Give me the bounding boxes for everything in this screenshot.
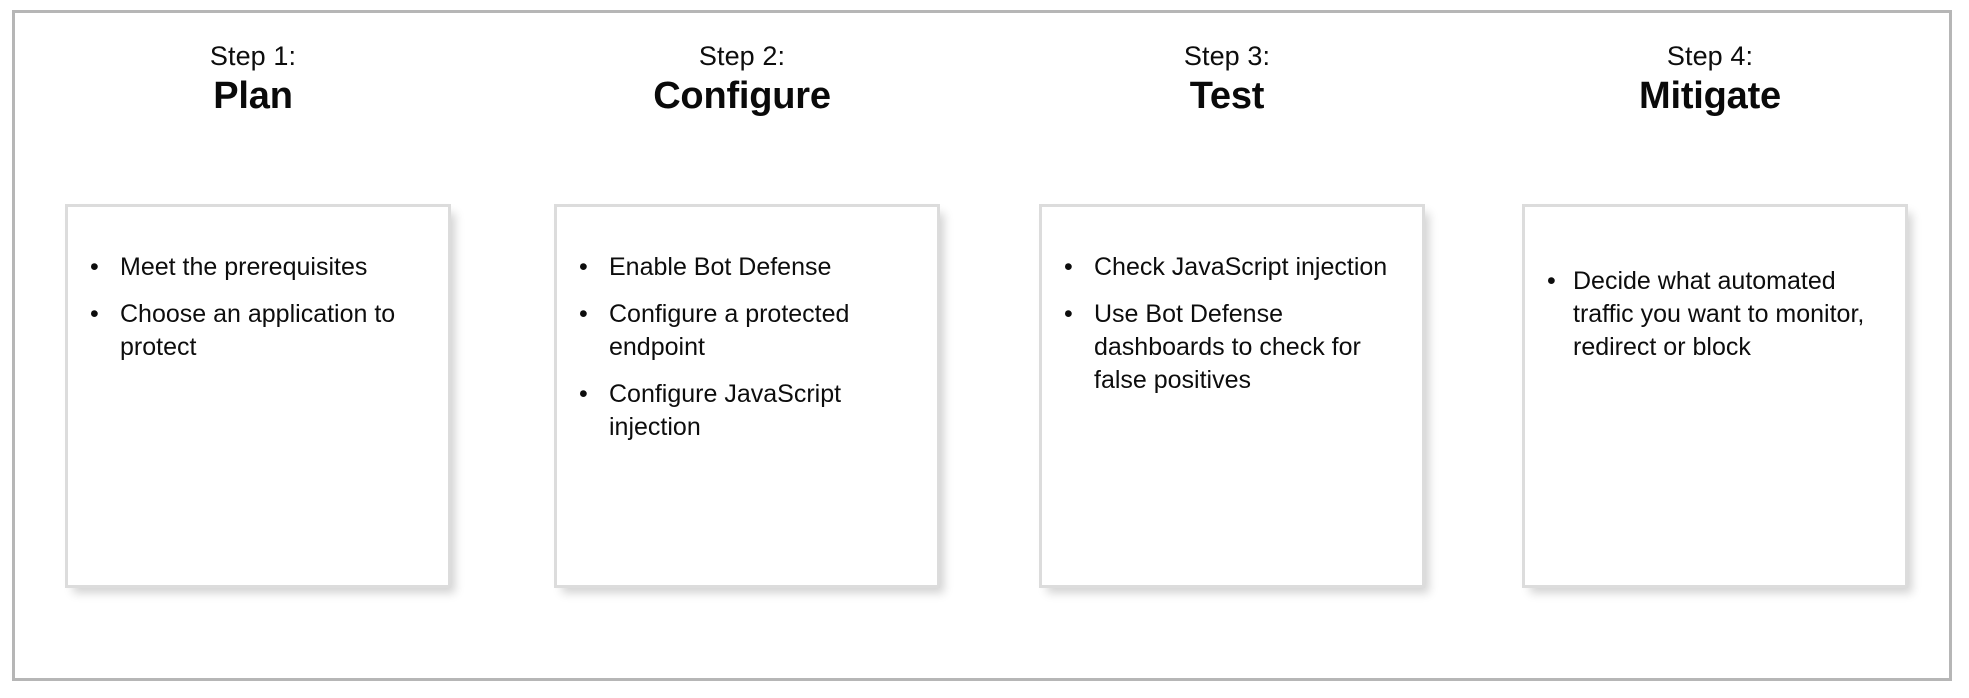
step-label-1: Step 1:	[53, 41, 453, 71]
bullet-text: Decide what automated traffic you want t…	[1573, 265, 1899, 364]
bullet-icon: •	[1056, 298, 1094, 331]
step-card-1: • Meet the prerequisites • Choose an app…	[65, 204, 451, 588]
step-header-3: Step 3: Test	[1027, 41, 1427, 118]
step-label-2: Step 2:	[542, 41, 942, 71]
steps-container: Step 1: Plan • Meet the prerequisites • …	[15, 13, 1949, 678]
bullet-icon: •	[82, 251, 120, 284]
step-header-2: Step 2: Configure	[542, 41, 942, 118]
bullet-list-4: • Decide what automated traffic you want…	[1525, 265, 1905, 378]
list-item: • Enable Bot Defense	[557, 251, 937, 284]
list-item: • Configure a protected endpoint	[557, 298, 937, 364]
step-title-2: Configure	[542, 75, 942, 118]
bullet-text: Configure JavaScript injection	[609, 378, 921, 444]
step-label-3: Step 3:	[1027, 41, 1427, 71]
list-item: • Check JavaScript injection	[1042, 251, 1422, 284]
step-title-3: Test	[1027, 75, 1427, 118]
step-title-1: Plan	[53, 75, 453, 118]
list-item: • Choose an application to protect	[68, 298, 448, 364]
step-column-2: Step 2: Configure • Enable Bot Defense •…	[542, 13, 942, 678]
list-item: • Decide what automated traffic you want…	[1525, 265, 1905, 364]
diagram-frame: Step 1: Plan • Meet the prerequisites • …	[12, 10, 1952, 681]
step-card-2: • Enable Bot Defense • Configure a prote…	[554, 204, 940, 588]
bullet-text: Meet the prerequisites	[120, 251, 432, 284]
step-column-4: Step 4: Mitigate • Decide what automated…	[1510, 13, 1910, 678]
bullet-list-3: • Check JavaScript injection • Use Bot D…	[1042, 251, 1422, 411]
list-item: • Configure JavaScript injection	[557, 378, 937, 444]
bullet-text: Use Bot Defense dashboards to check for …	[1094, 298, 1406, 397]
bullet-text: Configure a protected endpoint	[609, 298, 921, 364]
bullet-text: Choose an application to protect	[120, 298, 432, 364]
bullet-text: Enable Bot Defense	[609, 251, 921, 284]
bullet-icon: •	[1539, 265, 1573, 298]
bullet-icon: •	[82, 298, 120, 331]
step-column-3: Step 3: Test • Check JavaScript injectio…	[1027, 13, 1427, 678]
bullet-icon: •	[571, 251, 609, 284]
bullet-text: Check JavaScript injection	[1094, 251, 1406, 284]
bullet-icon: •	[1056, 251, 1094, 284]
list-item: • Use Bot Defense dashboards to check fo…	[1042, 298, 1422, 397]
bullet-icon: •	[571, 378, 609, 411]
bullet-icon: •	[571, 298, 609, 331]
step-header-4: Step 4: Mitigate	[1510, 41, 1910, 118]
step-title-4: Mitigate	[1510, 75, 1910, 118]
bullet-list-1: • Meet the prerequisites • Choose an app…	[68, 251, 448, 378]
step-column-1: Step 1: Plan • Meet the prerequisites • …	[53, 13, 453, 678]
list-item: • Meet the prerequisites	[68, 251, 448, 284]
bullet-list-2: • Enable Bot Defense • Configure a prote…	[557, 251, 937, 458]
step-label-4: Step 4:	[1510, 41, 1910, 71]
step-header-1: Step 1: Plan	[53, 41, 453, 118]
step-card-4: • Decide what automated traffic you want…	[1522, 204, 1908, 588]
step-card-3: • Check JavaScript injection • Use Bot D…	[1039, 204, 1425, 588]
